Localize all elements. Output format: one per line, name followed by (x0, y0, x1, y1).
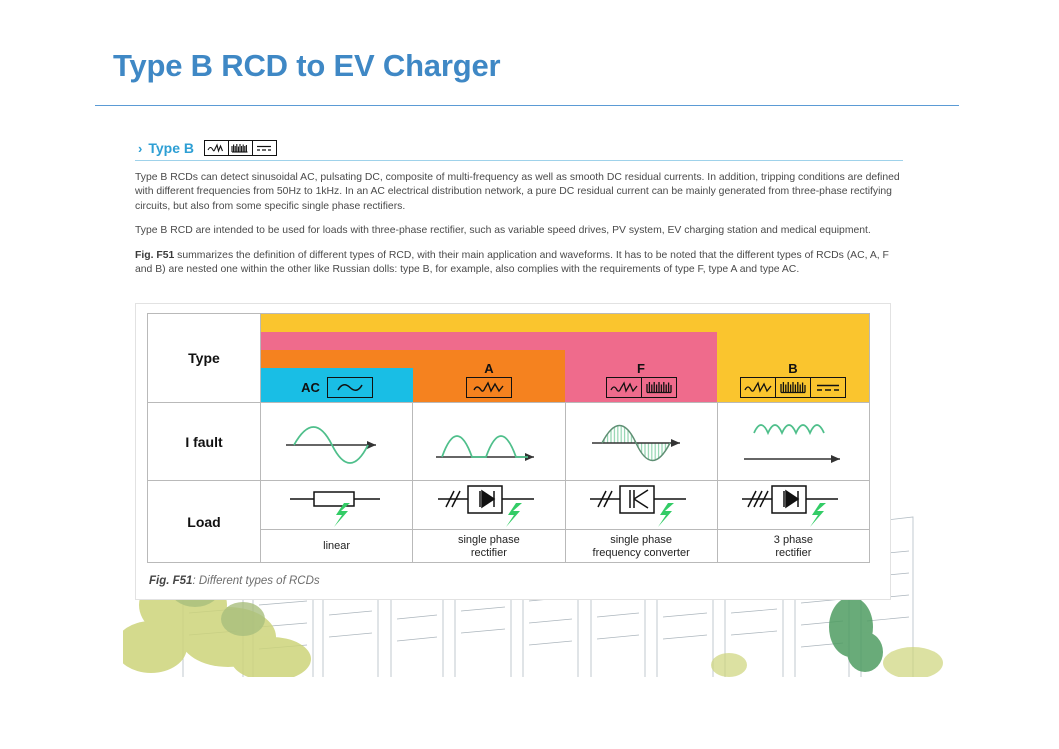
type-cell-f: F (565, 314, 717, 402)
smooth-dc-icon (253, 141, 276, 155)
load-name-a-line2: rectifier (471, 547, 507, 560)
load-name-b: 3 phase rectifier (718, 529, 869, 563)
type-letter-a: A (484, 362, 493, 375)
load-cells: linear (261, 481, 869, 563)
pulsating-dc-icon (642, 378, 676, 397)
load-name-a: single phase rectifier (413, 529, 564, 563)
ifault-waveform-cells (261, 403, 869, 480)
load-name-f: single phase frequency converter (566, 529, 717, 563)
sine-wave-icon (328, 378, 372, 397)
chevron-right-icon: › (138, 142, 142, 155)
smooth-dc-icon (811, 378, 845, 397)
diode-rectifier-icon (413, 481, 564, 529)
title-divider (95, 105, 959, 106)
type-letter-ac: AC (301, 380, 320, 395)
section-heading: › Type B (135, 140, 903, 156)
figure-caption-lead: Fig. F51 (149, 575, 192, 587)
symbol-group-a (466, 377, 512, 398)
symbol-group-b (740, 377, 846, 398)
type-letter-f: F (637, 362, 645, 375)
ifault-cell-f (566, 403, 718, 480)
load-cell-ac: linear (261, 481, 413, 563)
type-letter-b: B (788, 362, 797, 375)
row-label-load: Load (148, 481, 261, 563)
load-name-b-line1: 3 phase (774, 534, 813, 547)
load-name-a-line1: single phase (458, 534, 520, 547)
half-wave-pulses-icon (424, 411, 554, 473)
page-title: Type B RCD to EV Charger (113, 48, 500, 84)
table-row-type: Type AC (148, 314, 869, 403)
ifault-cell-a (413, 403, 565, 480)
frequency-converter-icon (566, 481, 717, 529)
rcd-types-table: Type AC (147, 313, 870, 563)
figure-reference: Fig. F51 (135, 250, 174, 261)
symbol-group-f (606, 377, 677, 398)
row-label-type: Type (148, 314, 261, 402)
hatched-sine-wave-icon (576, 411, 706, 473)
load-cell-f: single phase frequency converter (566, 481, 718, 563)
load-name-f-line2: frequency converter (593, 547, 690, 560)
load-name-b-line2: rectifier (775, 547, 811, 560)
figure-caption-rest: : Different types of RCDs (192, 575, 319, 587)
section-divider (135, 160, 903, 161)
type-symbol-cells: AC A (261, 314, 869, 402)
sine-plus-pulse-icon (607, 378, 642, 397)
paragraph-2: Type B RCD are intended to be used for l… (135, 224, 903, 238)
table-row-ifault: I fault (148, 403, 869, 481)
ifault-cell-b (718, 403, 869, 480)
symbol-group-ac (327, 377, 373, 398)
type-ac-inline: AC (301, 377, 373, 398)
sine-plus-pulse-icon (467, 378, 511, 397)
load-cell-b: 3 phase rectifier (718, 481, 869, 563)
resistor-icon (261, 481, 412, 529)
type-cell-b: B (717, 314, 869, 402)
figure-caption: Fig. F51: Different types of RCDs (149, 575, 320, 587)
pulsating-dc-icon (776, 378, 811, 397)
sine-plus-pulse-icon (741, 378, 776, 397)
load-cell-a: single phase rectifier (413, 481, 565, 563)
paragraph-3-text: summarizes the definition of different t… (135, 250, 889, 275)
figure-f51: Type AC (135, 303, 891, 600)
table-row-load: Load li (148, 481, 869, 563)
type-cell-a: A (413, 314, 565, 402)
ac-pulsating-waveform-icon (205, 141, 229, 155)
ripple-dc-icon (728, 411, 858, 473)
section-heading-label: Type B (148, 140, 194, 156)
load-name-ac: linear (261, 529, 412, 563)
ifault-cell-ac (261, 403, 413, 480)
rcd-symbol-group (204, 140, 277, 156)
document-panel: › Type B (135, 140, 903, 277)
paragraph-1: Type B RCDs can detect sinusoidal AC, pu… (135, 171, 903, 214)
paragraph-3: Fig. F51 summarizes the definition of di… (135, 249, 903, 278)
full-sine-wave-icon (272, 411, 402, 473)
load-name-f-line1: single phase (610, 534, 672, 547)
three-phase-rectifier-icon (718, 481, 869, 529)
pulsating-dc-icon (229, 141, 253, 155)
type-cell-ac: AC (261, 314, 413, 402)
load-name-ac-line1: linear (323, 540, 350, 553)
row-label-ifault: I fault (148, 403, 261, 480)
